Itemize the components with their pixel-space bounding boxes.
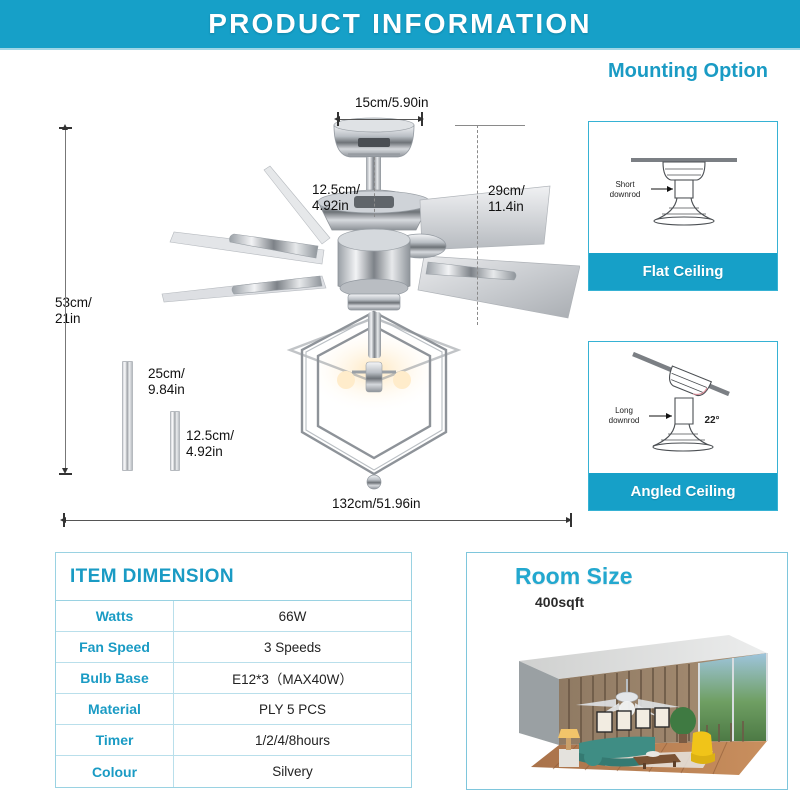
room-render-image bbox=[467, 617, 787, 787]
spec-key-bulb-base: Bulb Base bbox=[56, 663, 174, 693]
table-row: Fan Speed 3 Speeds bbox=[56, 632, 411, 663]
dim-total-height-line bbox=[65, 128, 66, 472]
spec-value-watts: 66W bbox=[174, 601, 411, 631]
dim-canopy-height-guide bbox=[374, 157, 375, 217]
spec-key-timer: Timer bbox=[56, 725, 174, 755]
flat-ceiling-callout: Short downrod bbox=[601, 180, 649, 200]
angled-ceiling-illustration: Long downrod 22° bbox=[589, 342, 777, 473]
dim-total-height-tick-top bbox=[59, 127, 72, 129]
spec-value-timer: 1/2/4/8hours bbox=[174, 725, 411, 755]
dim-drop-height-ceiling-line bbox=[455, 125, 525, 126]
dim-total-height-tick-bottom bbox=[59, 473, 72, 475]
dim-canopy-width-tick-right bbox=[421, 112, 423, 126]
spec-value-bulb-base: E12*3（MAX40W） bbox=[174, 663, 411, 693]
table-row: Timer 1/2/4/8hours bbox=[56, 725, 411, 756]
dim-canopy-width: 15cm/5.90in bbox=[355, 95, 429, 111]
angled-ceiling-label: Angled Ceiling bbox=[589, 473, 777, 510]
table-row: Watts 66W bbox=[56, 601, 411, 632]
spec-key-fan-speed: Fan Speed bbox=[56, 632, 174, 662]
dim-downrod-short: 12.5cm/ 4.92in bbox=[186, 428, 234, 459]
dim-blade-span-tick-right bbox=[570, 513, 572, 527]
table-row: Bulb Base E12*3（MAX40W） bbox=[56, 663, 411, 694]
spec-value-fan-speed: 3 Speeds bbox=[174, 632, 411, 662]
angled-ceiling-angle-label: 22° bbox=[699, 416, 725, 426]
mounting-option-flat-ceiling: Short downrod Flat Ceiling bbox=[588, 121, 778, 291]
dim-canopy-height: 12.5cm/ 4.92in bbox=[312, 182, 360, 213]
fan-dimension-diagram: 15cm/5.90in 12.5cm/ 4.92in 29cm/ 11.4in … bbox=[0, 50, 580, 550]
item-dimension-title: ITEM DIMENSION bbox=[56, 553, 411, 601]
spec-key-watts: Watts bbox=[56, 601, 174, 631]
item-dimension-table: ITEM DIMENSION Watts 66W Fan Speed 3 Spe… bbox=[55, 552, 412, 788]
dim-blade-span: 132cm/51.96in bbox=[332, 496, 421, 512]
spec-key-colour: Colour bbox=[56, 756, 174, 787]
table-row: Colour Silvery bbox=[56, 756, 411, 787]
spec-value-colour: Silvery bbox=[174, 756, 411, 787]
table-row: Material PLY 5 PCS bbox=[56, 694, 411, 725]
dim-drop-height-guide bbox=[477, 125, 478, 325]
room-size-title: Room Size bbox=[515, 563, 633, 590]
dim-canopy-width-line bbox=[338, 119, 422, 120]
room-size-panel: Room Size 400sqft bbox=[466, 552, 788, 790]
mounting-option-heading: Mounting Option bbox=[588, 60, 788, 83]
angled-ceiling-callout: Long downrod bbox=[599, 406, 649, 426]
downrod-long bbox=[122, 361, 133, 471]
page-title: PRODUCT INFORMATION bbox=[208, 8, 591, 40]
flat-ceiling-label: Flat Ceiling bbox=[589, 253, 777, 290]
dim-drop-height: 29cm/ 11.4in bbox=[488, 183, 525, 214]
room-size-area: 400sqft bbox=[535, 594, 584, 610]
dim-blade-span-line bbox=[64, 520, 570, 521]
mounting-option-angled-ceiling: Long downrod 22° Angled Ceiling bbox=[588, 341, 778, 511]
dim-canopy-width-tick-left bbox=[337, 112, 339, 126]
dim-total-height: 53cm/ 21in bbox=[55, 295, 92, 326]
dim-blade-span-tick-left bbox=[63, 513, 65, 527]
header-banner: PRODUCT INFORMATION bbox=[0, 0, 800, 48]
downrod-short bbox=[170, 411, 180, 471]
flat-ceiling-illustration: Short downrod bbox=[589, 122, 777, 253]
spec-key-material: Material bbox=[56, 694, 174, 724]
spec-value-material: PLY 5 PCS bbox=[174, 694, 411, 724]
dim-downrod-long: 25cm/ 9.84in bbox=[148, 366, 185, 397]
